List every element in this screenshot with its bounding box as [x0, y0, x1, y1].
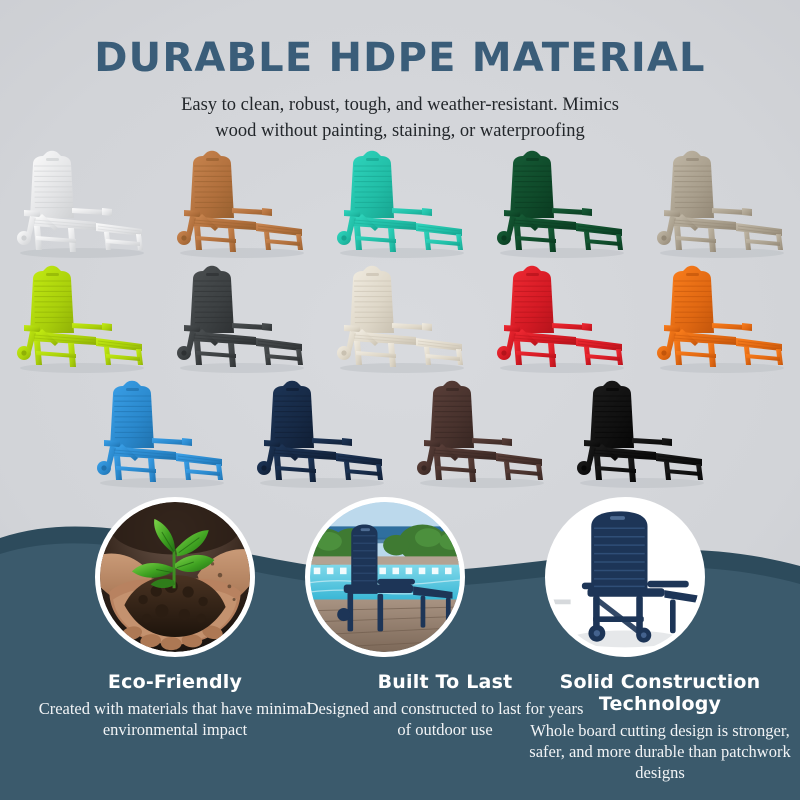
feature-title: Solid Construction Technology: [520, 672, 800, 716]
page-title: DURABLE HDPE MATERIAL: [0, 0, 800, 78]
chaise-lounge-icon: [0, 146, 160, 261]
feature-text-blocks: Eco-Friendly Created with materials that…: [0, 672, 800, 800]
color-swatch-ivory[interactable]: [320, 261, 480, 376]
color-swatch-teak[interactable]: [160, 146, 320, 261]
feature-title: Eco-Friendly: [8, 672, 342, 694]
infographic-page: DURABLE HDPE MATERIAL Easy to clean, rob…: [0, 0, 800, 800]
chaise-lounge-icon: [80, 376, 240, 491]
feature-description: Whole board cutting design is stronger, …: [520, 720, 800, 783]
color-swatch-grid: [0, 146, 800, 504]
chaise-lounge-icon: [400, 376, 560, 491]
feature-description: Created with materials that have minimal…: [8, 698, 342, 740]
color-swatch-white[interactable]: [0, 146, 160, 261]
header-section: DURABLE HDPE MATERIAL Easy to clean, rob…: [0, 0, 800, 150]
navy-chaise-by-pool-photo: [310, 502, 460, 652]
swatch-row-3: [0, 376, 800, 491]
photo-circle-eco-friendly: [95, 497, 255, 657]
chaise-lounge-icon: [0, 261, 160, 376]
color-swatch-coffee[interactable]: [400, 376, 560, 491]
photo-circle-built-to-last: [305, 497, 465, 657]
swatch-row-2: [0, 261, 800, 376]
color-swatch-lime[interactable]: [0, 261, 160, 376]
chaise-lounge-icon: [560, 376, 720, 491]
chaise-lounge-icon: [320, 261, 480, 376]
chaise-lounge-icon: [480, 146, 640, 261]
photo-circle-solid-construction: [545, 497, 705, 657]
color-swatch-turquoise[interactable]: [320, 146, 480, 261]
swatch-row-1: [0, 146, 800, 261]
color-swatch-black[interactable]: [560, 376, 720, 491]
chaise-lounge-icon: [480, 261, 640, 376]
color-swatch-weathered-wood[interactable]: [640, 146, 800, 261]
subtitle-line-2: wood without painting, staining, or wate…: [215, 121, 584, 141]
color-swatch-dark-gray[interactable]: [160, 261, 320, 376]
feature-solid-construction: Solid Construction Technology Whole boar…: [520, 672, 800, 783]
feature-photos: [0, 497, 800, 667]
chaise-lounge-icon: [640, 261, 800, 376]
color-swatch-red[interactable]: [480, 261, 640, 376]
feature-eco-friendly: Eco-Friendly Created with materials that…: [8, 672, 342, 740]
chaise-lounge-icon: [640, 146, 800, 261]
color-swatch-orange[interactable]: [640, 261, 800, 376]
chaise-lounge-icon: [240, 376, 400, 491]
hands-holding-seedling-soil-photo: [100, 502, 250, 652]
color-swatch-navy-blue[interactable]: [240, 376, 400, 491]
navy-chaise-back-view-photo: [550, 502, 700, 652]
chaise-lounge-icon: [320, 146, 480, 261]
color-swatch-dark-green[interactable]: [480, 146, 640, 261]
color-swatch-light-blue[interactable]: [80, 376, 240, 491]
subtitle-line-1: Easy to clean, robust, tough, and weathe…: [181, 95, 619, 115]
page-subtitle: Easy to clean, robust, tough, and weathe…: [0, 78, 800, 145]
chaise-lounge-icon: [160, 261, 320, 376]
chaise-lounge-icon: [160, 146, 320, 261]
